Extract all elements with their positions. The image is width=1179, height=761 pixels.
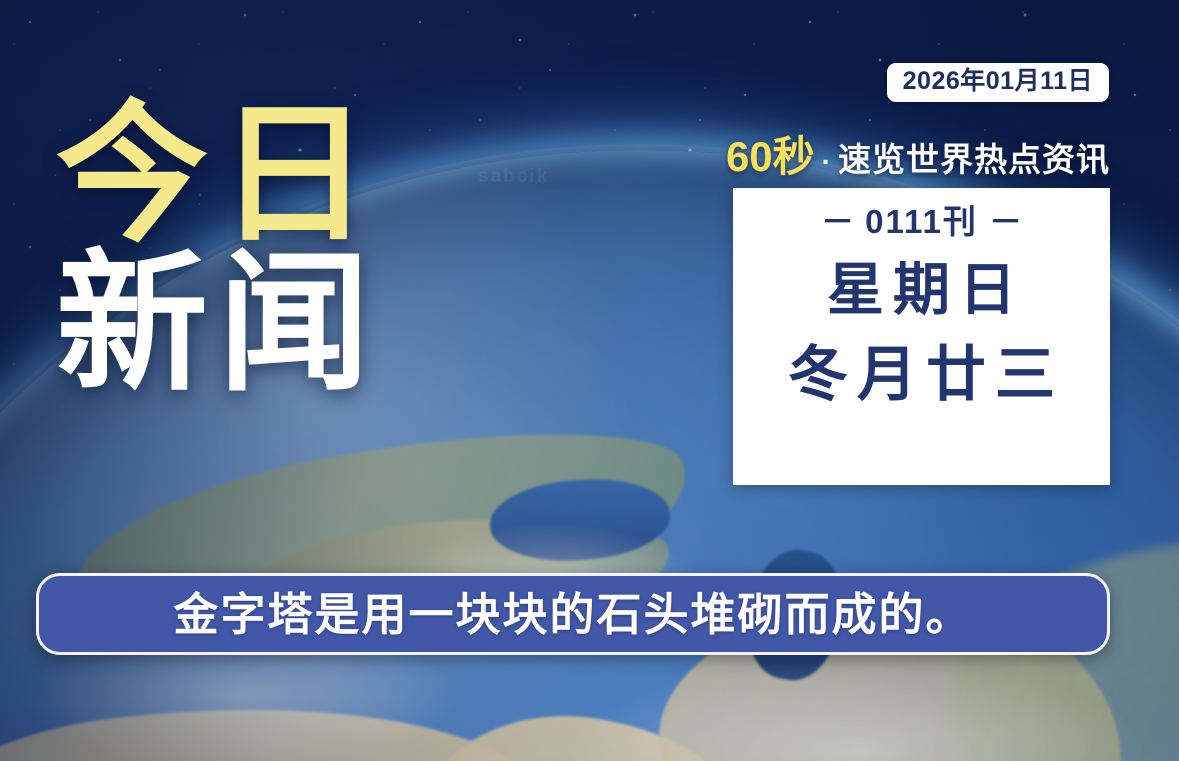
- tagline-separator-dot: ·: [819, 148, 834, 176]
- watermark-text: sabcik: [478, 166, 549, 188]
- tagline: 60秒 · 速览世界热点资讯: [733, 136, 1110, 178]
- issue-dash-left: －: [821, 203, 854, 240]
- issue-dash-right: －: [989, 203, 1022, 240]
- page-title-line-2: 新闻: [56, 253, 380, 396]
- lunar-date-label: 冬月廿三: [733, 345, 1110, 405]
- issue-row: － 0111刊 －: [733, 204, 1110, 240]
- date-info-card: － 0111刊 － 星期日 冬月廿三: [733, 188, 1110, 485]
- issue-number: 0111刊: [865, 203, 978, 240]
- news-poster: sabcik 2026年01月11日 今日 新闻 60秒 · 速览世界热点资讯 …: [0, 0, 1179, 761]
- quote-text: 金字塔是用一块块的石头堆砌而成的。: [173, 592, 972, 637]
- poster-content: sabcik 2026年01月11日 今日 新闻 60秒 · 速览世界热点资讯 …: [0, 0, 1179, 761]
- right-info-column: 60秒 · 速览世界热点资讯 － 0111刊 － 星期日 冬月廿三: [733, 136, 1110, 485]
- poster-title: 今日 新闻: [56, 104, 380, 396]
- quote-banner: 金字塔是用一块块的石头堆砌而成的。: [36, 573, 1110, 655]
- tagline-highlight: 60秒: [726, 136, 815, 178]
- page-title-line-1: 今日: [56, 104, 380, 247]
- tagline-text: 速览世界热点资讯: [838, 143, 1110, 176]
- date-badge: 2026年01月11日: [887, 63, 1109, 102]
- weekday-label: 星期日: [733, 262, 1110, 319]
